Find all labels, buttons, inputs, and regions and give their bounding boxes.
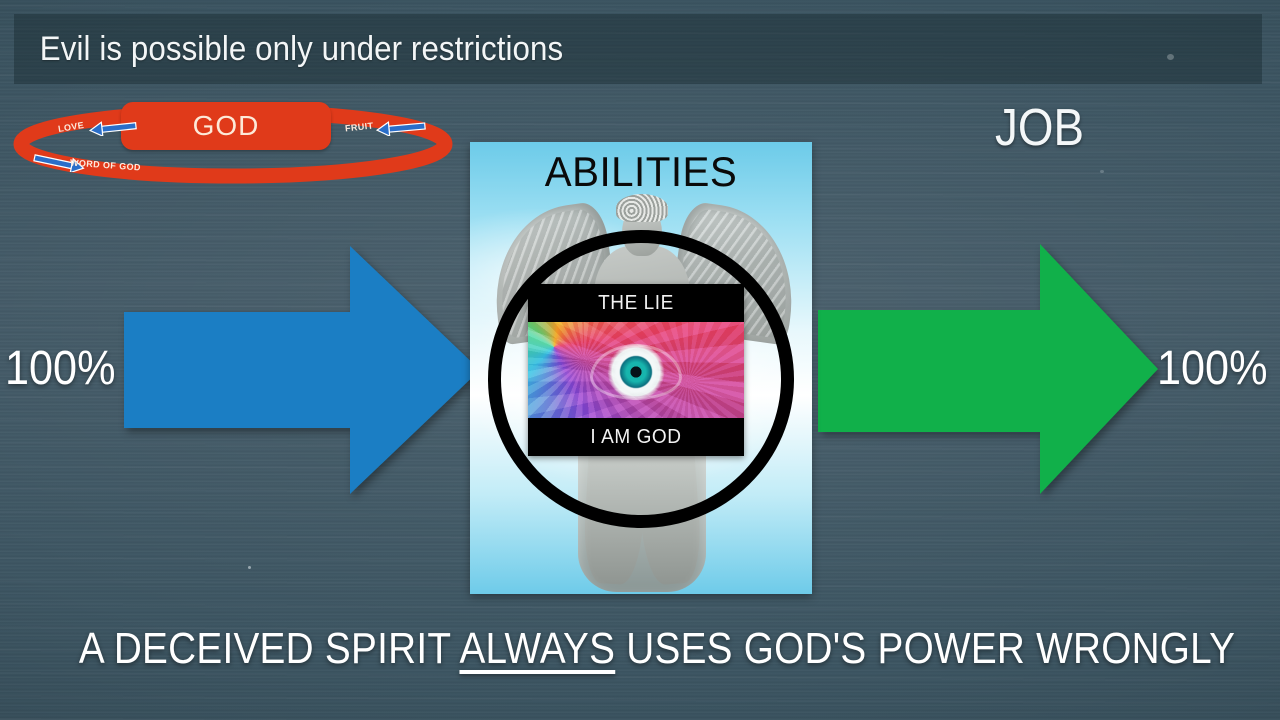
- job-label: JOB: [995, 98, 1084, 158]
- colorful-eye-image: [528, 322, 744, 418]
- statue-hair: [616, 194, 668, 222]
- caption-inner: A DECEIVED SPIRIT ALWAYS USES GOD'S POWE…: [79, 624, 1235, 674]
- right-arrow-blue-icon: [124, 246, 480, 494]
- abilities-picture: ABILITIES THE LIE I AM GOD: [470, 142, 812, 594]
- the-lie-eye-card: THE LIE I AM GOD: [528, 284, 744, 456]
- god-box: GOD: [121, 102, 331, 150]
- background-speck: [1100, 170, 1104, 173]
- slide-canvas: Evil is possible only under restrictions…: [0, 0, 1280, 720]
- caption-emphasis: ALWAYS: [459, 624, 615, 673]
- background-speck: [248, 566, 251, 569]
- god-cycle-loop: GOD LOVE FRUIT WORD OF GOD: [8, 104, 458, 184]
- god-box-label: GOD: [193, 110, 260, 142]
- to-do-evil-arrow: [818, 244, 1158, 494]
- bottom-caption: A DECEIVED SPIRIT ALWAYS USES GOD'S POWE…: [0, 624, 1280, 674]
- love-arrow-icon: [86, 120, 142, 136]
- the-lie-band: THE LIE: [533, 284, 738, 322]
- slide-title-bar: Evil is possible only under restrictions: [14, 14, 1262, 84]
- left-percent-label: 100%: [5, 341, 115, 396]
- abilities-title: ABILITIES: [477, 148, 805, 196]
- uses-gods-power-arrow: [124, 246, 480, 494]
- caption-part2: USES GOD'S POWER WRONGLY: [615, 624, 1235, 673]
- fruit-arrow-icon: [373, 120, 431, 136]
- caption-part1: A DECEIVED SPIRIT: [79, 624, 460, 673]
- right-arrow-green-icon: [818, 244, 1158, 494]
- right-percent-label: 100%: [1157, 341, 1267, 396]
- page-title: Evil is possible only under restrictions: [14, 30, 563, 69]
- i-am-god-band: I AM GOD: [533, 418, 738, 456]
